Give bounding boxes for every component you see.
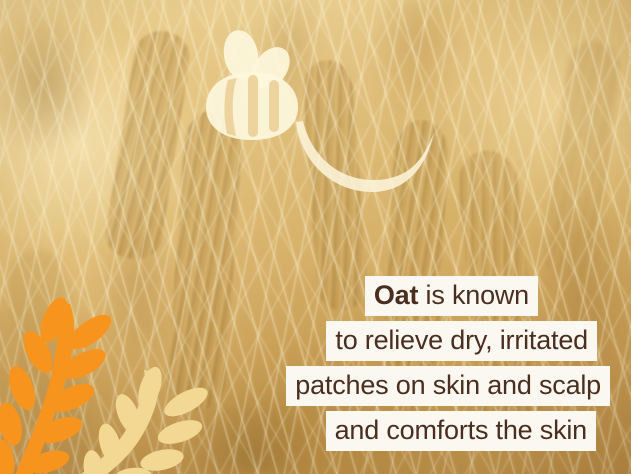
- callout-line: patches on skin and scalp: [286, 366, 610, 406]
- callout-text-block: Oat is known to relieve dry, irritated p…: [280, 276, 610, 456]
- bee-icon: [198, 24, 306, 142]
- callout-line-text: and comforts the skin: [335, 415, 587, 445]
- callout-lead-word: Oat: [374, 280, 418, 310]
- callout-line-text: to relieve dry, irritated: [335, 325, 588, 355]
- callout-line-text: patches on skin and scalp: [295, 370, 601, 400]
- callout-line: Oat is known: [365, 276, 538, 316]
- callout-line: and comforts the skin: [326, 411, 596, 451]
- flight-path-swoosh: [292, 118, 440, 204]
- promo-image: Oat is known to relieve dry, irritated p…: [0, 0, 631, 474]
- callout-line: to relieve dry, irritated: [326, 321, 597, 361]
- callout-line-text: is known: [418, 280, 529, 310]
- wheat-sprig-cream: [58, 366, 238, 474]
